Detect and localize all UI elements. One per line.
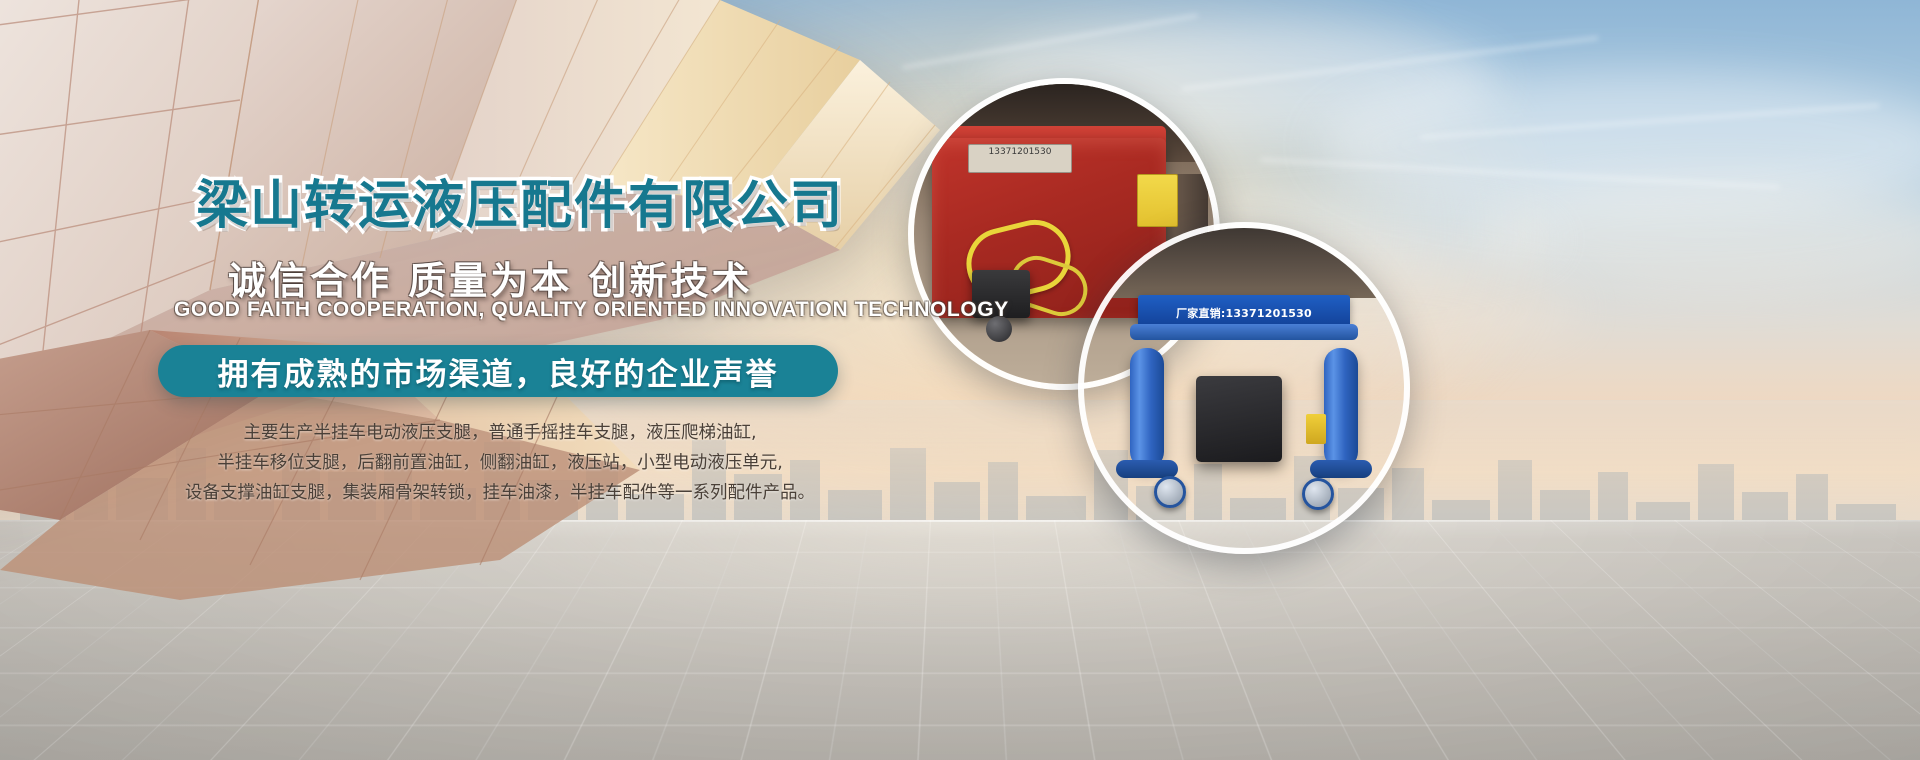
yellow-tag bbox=[1306, 414, 1326, 444]
description-line: 主要生产半挂车电动液压支腿，普通手摇挂车支腿，液压爬梯油缸, bbox=[150, 418, 850, 448]
hydraulic-cylinder-left bbox=[1130, 348, 1164, 468]
slogan-english: GOOD FAITH COOPERATION, QUALITY ORIENTED… bbox=[174, 298, 1009, 322]
banner-text-block: 梁山转运液压配件有限公司 诚信合作 质量为本 创新技术 GOOD FAITH C… bbox=[0, 0, 900, 700]
blue-hydraulic-landing-gear-photo[interactable]: 厂家直销:13371201530 bbox=[1078, 222, 1410, 554]
factory-phone-text: 厂家直销:13371201530 bbox=[1176, 305, 1312, 321]
hydraulic-cylinder-right bbox=[1324, 348, 1358, 468]
support-foot-right bbox=[1310, 460, 1372, 478]
description-line: 半挂车移位支腿，后翻前置油缸，侧翻油缸，液压站，小型电动液压单元, bbox=[150, 448, 850, 478]
product-description: 主要生产半挂车电动液压支腿，普通手摇挂车支腿，液压爬梯油缸, 半挂车移位支腿，后… bbox=[150, 418, 850, 508]
caster-wheel-right bbox=[1302, 478, 1334, 510]
hero-banner: 13371201530 厂家直销:13371201530 bbox=[0, 0, 1920, 760]
highlight-text: 拥有成熟的市场渠道，良好的企业声誉 bbox=[218, 349, 779, 394]
highlight-pill-bar: 拥有成熟的市场渠道，良好的企业声誉 bbox=[158, 345, 838, 397]
control-box bbox=[1196, 376, 1282, 462]
caster-wheel-left bbox=[1154, 476, 1186, 508]
slogan-chinese: 诚信合作 质量为本 创新技术 bbox=[228, 250, 752, 305]
warning-sticker bbox=[1137, 174, 1178, 227]
description-line: 设备支撑油缸支腿，集装厢骨架转锁，挂车油漆，半挂车配件等一系列配件产品。 bbox=[150, 478, 850, 508]
machine-phone-label: 13371201530 bbox=[968, 144, 1072, 173]
photo-background-upper bbox=[1084, 228, 1404, 298]
frame-bar bbox=[1130, 324, 1358, 340]
company-title: 梁山转运液压配件有限公司 bbox=[196, 163, 844, 238]
